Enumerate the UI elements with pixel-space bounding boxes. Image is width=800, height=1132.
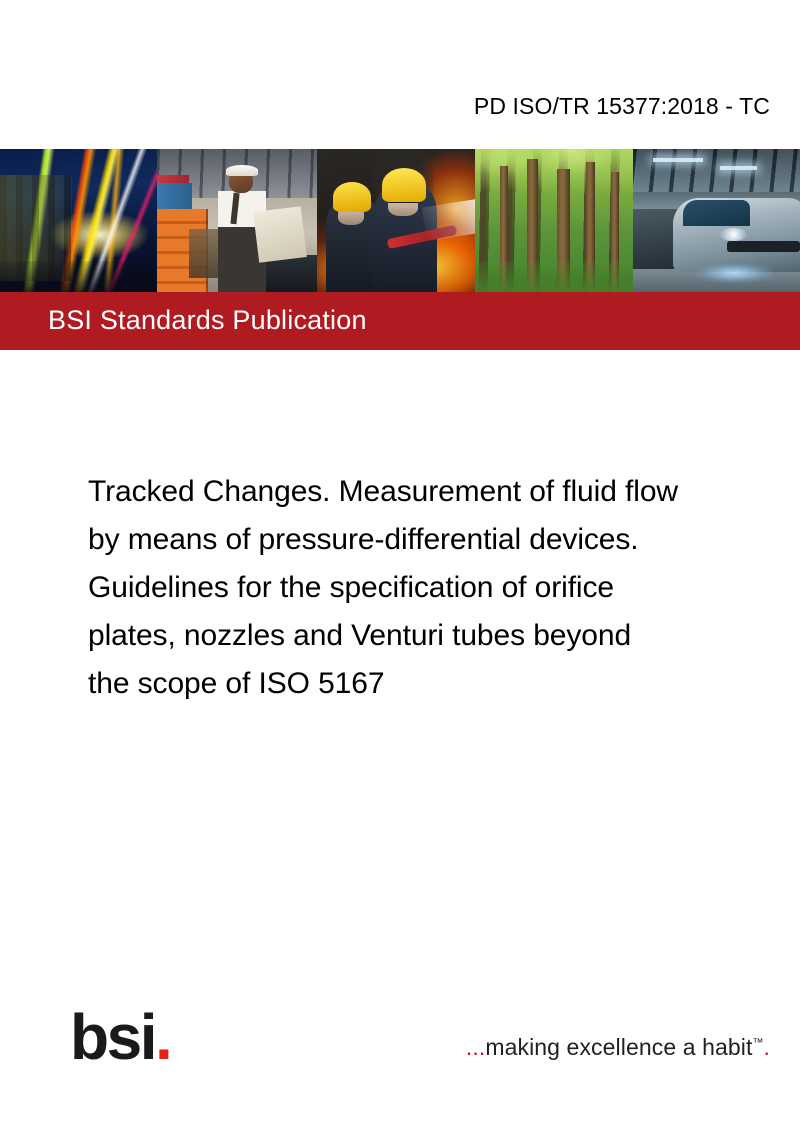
cover-banner: BSI Standards Publication (0, 149, 800, 350)
banner-photo-night-traffic-light-trails (0, 149, 157, 292)
title-line: Tracked Changes. Measurement of fluid fl… (88, 468, 778, 516)
title-line: plates, nozzles and Venturi tubes beyond (88, 612, 778, 660)
firefighter-water-spray (422, 199, 475, 242)
title-line: the scope of ISO 5167 (88, 660, 778, 708)
banner-photo-strip (0, 149, 800, 292)
bsi-tagline: ...making excellence a habit™. (466, 1034, 770, 1061)
title-line: Guidelines for the specification of orif… (88, 564, 778, 612)
standards-publication-bar: BSI Standards Publication (0, 292, 800, 350)
firefighter-helmet-right (382, 168, 426, 202)
trademark-symbol: ™ (753, 1037, 764, 1049)
document-cover-page: PD ISO/TR 15377:2018 - TC (0, 0, 800, 1132)
tagline-trailing-dot: . (764, 1034, 771, 1060)
banner-photo-warehouse-worker (157, 149, 317, 292)
warehouse-worker-cap (226, 165, 258, 176)
warehouse-crate-blue (157, 183, 192, 212)
bsi-logo: bsi. (70, 1005, 170, 1069)
forest-floor (475, 261, 633, 292)
bsi-logo-wordmark: bsi (70, 1001, 155, 1073)
forest-canopy (475, 149, 633, 192)
factory-roof-structure (633, 149, 800, 192)
car-grille (727, 241, 800, 252)
warehouse-carton (253, 206, 307, 263)
car-windscreen (683, 200, 750, 226)
banner-photo-firefighters (317, 149, 475, 292)
banner-photo-forest (475, 149, 633, 292)
factory-ceiling-lamp (720, 166, 757, 170)
document-reference-code: PD ISO/TR 15377:2018 - TC (0, 93, 770, 120)
factory-ceiling-lamp (653, 158, 703, 162)
banner-photo-car-assembly-line (633, 149, 800, 292)
bsi-logo-dot: . (155, 1001, 170, 1073)
page-title: Tracked Changes. Measurement of fluid fl… (88, 468, 778, 708)
warehouse-trolley (189, 229, 218, 278)
tagline-text: making excellence a habit (485, 1034, 752, 1060)
tagline-leading-ellipsis: ... (466, 1034, 485, 1060)
cover-footer: bsi. ...making excellence a habit™. (0, 1005, 800, 1095)
standards-publication-label: BSI Standards Publication (48, 305, 367, 336)
car-underbody-light (696, 263, 773, 283)
firefighter-helmet-left (333, 182, 371, 212)
car-headlight (720, 228, 747, 241)
title-line: by means of pressure-differential device… (88, 516, 778, 564)
